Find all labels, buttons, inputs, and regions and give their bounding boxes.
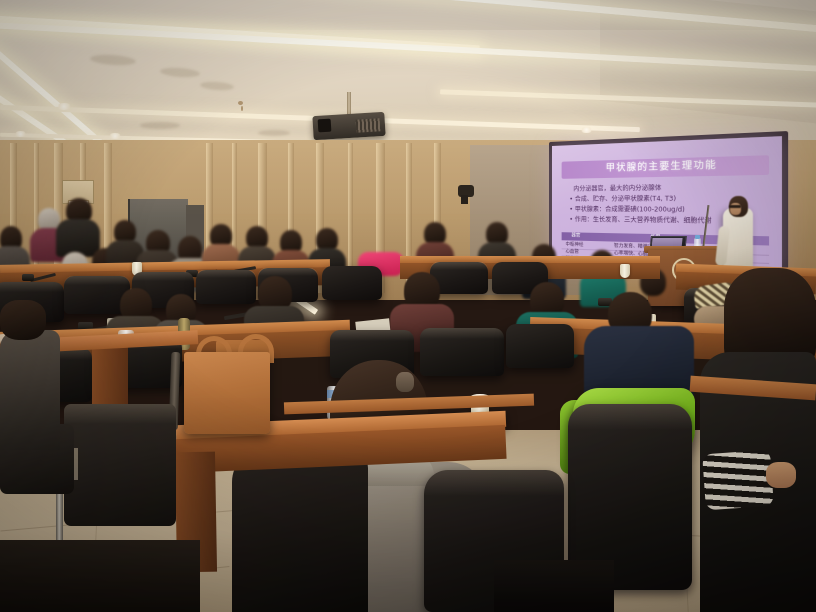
chair-highlight [64,276,130,285]
recessed-spotlight [14,131,27,137]
recessed-spotlight [580,127,593,133]
desk-microphone[interactable] [22,274,34,281]
paper-cup[interactable] [620,264,630,278]
slide-bullet: • 甲状腺素：合成需要碘(100-200ug/d) [569,206,684,215]
air-vent [258,130,290,136]
hair-clip [396,372,414,392]
foreground-shadow [0,540,200,612]
wall-camera-lens-icon [461,195,468,204]
chair[interactable] [506,324,574,368]
audience-hand [766,462,796,488]
tan-leather-tote-bag[interactable] [184,352,270,434]
chair-highlight [568,404,692,430]
audience-torso [232,448,368,612]
recessed-spotlight [56,103,72,110]
chair-highlight [420,328,504,339]
chair-highlight [0,282,64,292]
chair-highlight [196,270,256,278]
foreground-shadow [494,560,614,612]
striped-sleeve [702,450,774,511]
chair[interactable] [322,266,382,300]
chair-highlight [64,404,176,424]
chair-highlight [132,272,194,281]
bottle-cap [695,235,700,239]
glasses-icon [729,205,741,208]
chair-highlight [424,470,564,496]
slide-bullet: • 合成、贮存、分泌甲状腺素(T4, T3) [569,195,676,204]
audience-head [0,300,46,340]
projector-lens-icon [318,119,332,133]
projector-vent [356,118,381,132]
projector-mount-pole [347,92,351,116]
recessed-spotlight [108,133,122,139]
slide-bullet: • 作用：生长发育、三大营养物质代谢、细胞代谢 [569,216,711,226]
audience-torso [0,330,60,450]
slide-table-header-cell: 器官 [571,232,580,240]
lecture-hall-photo: 甲状腺的主要生理功能 内分泌器官，最大的内分泌腺体 • 合成、贮存、分泌甲状腺素… [0,0,816,612]
chair-highlight [258,268,318,276]
sprinkler-head [241,106,243,111]
chair-highlight [430,262,488,270]
slide-bullet: 内分泌器官，最大的内分泌腺体 [573,184,661,193]
chair-highlight [330,330,414,341]
sprinkler-head [238,101,243,105]
air-vent [140,122,180,129]
